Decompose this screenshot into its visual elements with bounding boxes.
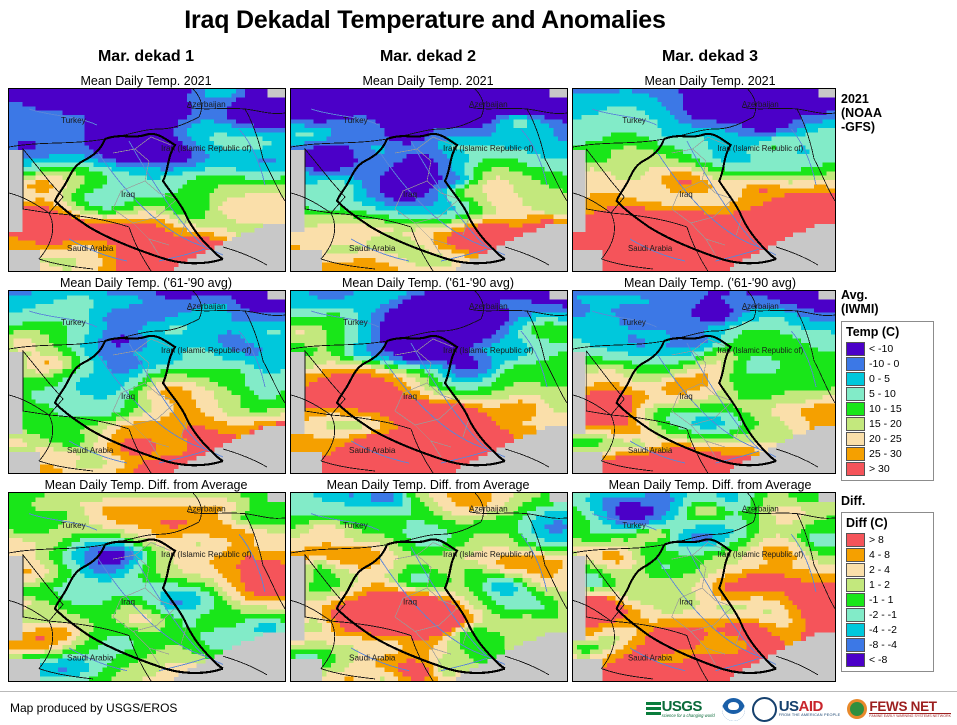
temp-legend-label: < -10 [869, 343, 893, 355]
rail-row-2: Diff. Diff (C) > 84 - 82 - 41 - 2-1 - 1-… [841, 494, 957, 672]
noaa-logo [722, 696, 745, 722]
diff-legend-swatch-icon [846, 593, 865, 607]
diff-legend-row: 1 - 2 [846, 577, 930, 592]
temp-legend-swatch-icon [846, 342, 865, 356]
diff-legend-swatch-icon [846, 623, 865, 637]
label-iran: Iran (Islamic Republic of) [161, 346, 252, 355]
rail-line-0: Avg. [841, 288, 957, 302]
diff-legend-swatch-icon [846, 578, 865, 592]
temp-legend-row: 10 - 15 [846, 401, 930, 416]
label-iran: Iran (Islamic Republic of) [717, 550, 803, 559]
diff-legend-swatch-icon [846, 563, 865, 577]
temp-legend-swatch-icon [846, 387, 865, 401]
temp-legend-label: > 30 [869, 463, 890, 475]
diff-legend-row: -1 - 1 [846, 592, 930, 607]
diff-legend-label: -8 - -4 [869, 639, 897, 651]
panel-caption-r1c2: Mean Daily Temp. ('61-'90 avg) [572, 276, 848, 290]
rail-row-1: Avg. (IWMI) Temp (C) < -10-10 - 00 - 55 … [841, 288, 957, 481]
noaa-seal-icon [722, 698, 745, 721]
label-iran: Iran (Islamic Republic of) [717, 346, 803, 355]
map-panel-r1c0[interactable]: TurkeyAzerbaijanIran (Islamic Republic o… [8, 290, 286, 474]
label-iran: Iran (Islamic Republic of) [443, 144, 534, 153]
temp-legend-row: -10 - 0 [846, 356, 930, 371]
label-turkey: Turkey [61, 318, 87, 327]
map-panel-r2c2[interactable]: TurkeyAzerbaijanIran (Islamic Republic o… [572, 492, 836, 682]
temp-legend-swatch-icon [846, 357, 865, 371]
diff-legend-swatch-icon [846, 653, 865, 667]
temp-legend-label: 10 - 15 [869, 403, 902, 415]
label-azerbaijan: Azerbaijan [742, 302, 779, 311]
rail-line-0: Diff. [841, 494, 957, 508]
diff-legend-row: -8 - -4 [846, 637, 930, 652]
label-iraq: Iraq [121, 596, 135, 606]
diff-legend-label: 4 - 8 [869, 549, 890, 561]
label-saudi-arabia: Saudi Arabia [349, 652, 396, 662]
panel-caption-r0c0: Mean Daily Temp. 2021 [8, 74, 284, 88]
temp-legend-row: 5 - 10 [846, 386, 930, 401]
panel-caption-r0c2: Mean Daily Temp. 2021 [572, 74, 848, 88]
label-saudi-arabia: Saudi Arabia [67, 446, 114, 455]
rail-line-1: (IWMI) [841, 302, 957, 316]
temp-legend-row: 20 - 25 [846, 431, 930, 446]
panel-caption-r2c0: Mean Daily Temp. Diff. from Average [8, 478, 284, 492]
map-panel-r1c1[interactable]: TurkeyAzerbaijanIran (Islamic Republic o… [290, 290, 568, 474]
label-turkey: Turkey [343, 116, 369, 125]
label-iraq: Iraq [403, 596, 417, 606]
map-panel-r0c1[interactable]: TurkeyAzerbaijanIran (Islamic Republic o… [290, 88, 568, 272]
diff-legend-swatch-icon [846, 548, 865, 562]
temp-legend-label: 0 - 5 [869, 373, 890, 385]
fews-net-logo-text: FEWS NET [869, 701, 951, 714]
usaid-seal-icon [752, 697, 777, 722]
diff-legend-label: 2 - 4 [869, 564, 890, 576]
temp-legend-label: 20 - 25 [869, 433, 902, 445]
label-iran: Iran (Islamic Republic of) [443, 346, 534, 355]
column-header-dekad-2: Mar. dekad 2 [290, 48, 566, 66]
map-panel-r0c0[interactable]: TurkeyAzerbaijanIran (Islamic Republic o… [8, 88, 286, 272]
label-turkey: Turkey [622, 318, 645, 327]
diff-legend-heading: Diff (C) [846, 516, 930, 530]
diff-legend-label: 1 - 2 [869, 579, 890, 591]
map-panel-r2c1[interactable]: TurkeyAzerbaijanIran (Islamic Republic o… [290, 492, 568, 682]
temp-legend-label: -10 - 0 [869, 358, 899, 370]
label-turkey: Turkey [61, 520, 87, 530]
temp-legend-row: 0 - 5 [846, 371, 930, 386]
diff-legend-row: -4 - -2 [846, 622, 930, 637]
label-iraq: Iraq [121, 190, 136, 199]
page-title: Iraq Dekadal Temperature and Anomalies [0, 6, 850, 35]
panel-caption-r2c1: Mean Daily Temp. Diff. from Average [290, 478, 566, 492]
panel-caption-r1c0: Mean Daily Temp. ('61-'90 avg) [8, 276, 284, 290]
usaid-logo: USAID FROM THE AMERICAN PEOPLE [752, 696, 841, 722]
temp-legend-swatch-icon [846, 432, 865, 446]
label-saudi-arabia: Saudi Arabia [628, 446, 673, 455]
temp-legend-label: 5 - 10 [869, 388, 896, 400]
temp-legend-row: < -10 [846, 341, 930, 356]
temp-legend-row: > 30 [846, 461, 930, 476]
usgs-logo-tagline: science for a changing world [662, 713, 715, 718]
label-azerbaijan: Azerbaijan [469, 302, 508, 311]
label-azerbaijan: Azerbaijan [469, 503, 508, 513]
label-turkey: Turkey [622, 521, 646, 530]
diff-legend-row: < -8 [846, 652, 930, 667]
column-header-dekad-1: Mar. dekad 1 [8, 48, 284, 66]
label-azerbaijan: Azerbaijan [742, 504, 779, 513]
panel-caption-r2c2: Mean Daily Temp. Diff. from Average [572, 478, 848, 492]
label-azerbaijan: Azerbaijan [469, 100, 508, 109]
rail-line-0: 2021 [841, 92, 957, 106]
map-panel-r2c0[interactable]: TurkeyAzerbaijanIran (Islamic Republic o… [8, 492, 286, 682]
usaid-logo-tagline: FROM THE AMERICAN PEOPLE [779, 713, 841, 717]
temp-legend: Temp (C) < -10-10 - 00 - 55 - 1010 - 151… [841, 321, 934, 481]
diff-legend-swatch-icon [846, 638, 865, 652]
usgs-logo-text: USGS [662, 701, 715, 713]
temp-legend-swatch-icon [846, 462, 865, 476]
diff-legend-label: -1 - 1 [869, 594, 894, 606]
label-turkey: Turkey [622, 116, 645, 125]
map-panel-r0c2[interactable]: TurkeyAzerbaijanIran (Islamic Republic o… [572, 88, 836, 272]
temp-legend-heading: Temp (C) [846, 325, 930, 339]
rail-row-0: 2021 (NOAA -GFS) [841, 92, 957, 134]
label-iraq: Iraq [121, 392, 136, 401]
label-azerbaijan: Azerbaijan [742, 100, 779, 109]
temp-legend-swatch-icon [846, 372, 865, 386]
label-iran: Iran (Islamic Republic of) [717, 144, 803, 153]
label-saudi-arabia: Saudi Arabia [349, 446, 396, 455]
temp-legend-row: 15 - 20 [846, 416, 930, 431]
temp-legend-label: 25 - 30 [869, 448, 902, 460]
temp-legend-row: 25 - 30 [846, 446, 930, 461]
rail-title-2021: 2021 (NOAA -GFS) [841, 92, 957, 134]
temp-legend-swatch-icon [846, 417, 865, 431]
fews-globe-icon [847, 699, 867, 719]
diff-legend-row: -2 - -1 [846, 607, 930, 622]
label-iran: Iran (Islamic Republic of) [161, 144, 252, 153]
rail-title-avg: Avg. (IWMI) [841, 288, 957, 316]
panel-caption-r1c1: Mean Daily Temp. ('61-'90 avg) [290, 276, 566, 290]
rail-line-1: (NOAA [841, 106, 957, 120]
footer: Map produced by USGS/EROS USGS science f… [0, 691, 957, 725]
label-iraq: Iraq [679, 392, 692, 401]
map-credit: Map produced by USGS/EROS [10, 701, 177, 715]
diff-legend-row: 4 - 8 [846, 547, 930, 562]
label-azerbaijan: Azerbaijan [187, 302, 226, 311]
panel-caption-r0c1: Mean Daily Temp. 2021 [290, 74, 566, 88]
temp-legend-swatch-icon [846, 402, 865, 416]
label-azerbaijan: Azerbaijan [187, 100, 226, 109]
usaid-logo-text: USAID [779, 701, 841, 713]
diff-legend: Diff (C) > 84 - 82 - 41 - 2-1 - 1-2 - -1… [841, 512, 934, 672]
label-iraq: Iraq [403, 190, 418, 199]
usgs-logo: USGS science for a changing world [646, 696, 715, 722]
label-iraq: Iraq [403, 392, 418, 401]
label-saudi-arabia: Saudi Arabia [628, 653, 673, 662]
temp-legend-label: 15 - 20 [869, 418, 902, 430]
label-turkey: Turkey [61, 116, 87, 125]
usgs-wave-icon [646, 702, 661, 717]
fews-net-logo-tagline: FAMINE EARLY WARNING SYSTEMS NETWORK [869, 714, 951, 718]
label-azerbaijan: Azerbaijan [187, 503, 226, 513]
label-iraq: Iraq [679, 190, 692, 199]
agency-logos: USGS science for a changing world USAID … [646, 696, 951, 722]
diff-legend-swatch-icon [846, 533, 865, 547]
label-iran: Iran (Islamic Republic of) [161, 549, 252, 559]
temp-legend-swatch-icon [846, 447, 865, 461]
label-turkey: Turkey [343, 520, 369, 530]
label-iraq: Iraq [679, 597, 692, 606]
rail-title-diff: Diff. [841, 494, 957, 508]
diff-legend-label: < -8 [869, 654, 887, 666]
label-saudi-arabia: Saudi Arabia [349, 244, 396, 253]
map-panel-r1c2[interactable]: TurkeyAzerbaijanIran (Islamic Republic o… [572, 290, 836, 474]
fews-net-logo: FEWS NET FAMINE EARLY WARNING SYSTEMS NE… [847, 696, 951, 722]
label-saudi-arabia: Saudi Arabia [67, 652, 114, 662]
label-saudi-arabia: Saudi Arabia [67, 244, 114, 253]
diff-legend-label: -4 - -2 [869, 624, 897, 636]
rail-line-2: -GFS) [841, 120, 957, 134]
diff-legend-row: 2 - 4 [846, 562, 930, 577]
column-header-dekad-3: Mar. dekad 3 [572, 48, 848, 66]
diff-legend-row: > 8 [846, 532, 930, 547]
diff-legend-label: -2 - -1 [869, 609, 897, 621]
label-iran: Iran (Islamic Republic of) [443, 549, 534, 559]
diff-legend-swatch-icon [846, 608, 865, 622]
diff-legend-label: > 8 [869, 534, 884, 546]
label-saudi-arabia: Saudi Arabia [628, 244, 673, 253]
label-turkey: Turkey [343, 318, 369, 327]
